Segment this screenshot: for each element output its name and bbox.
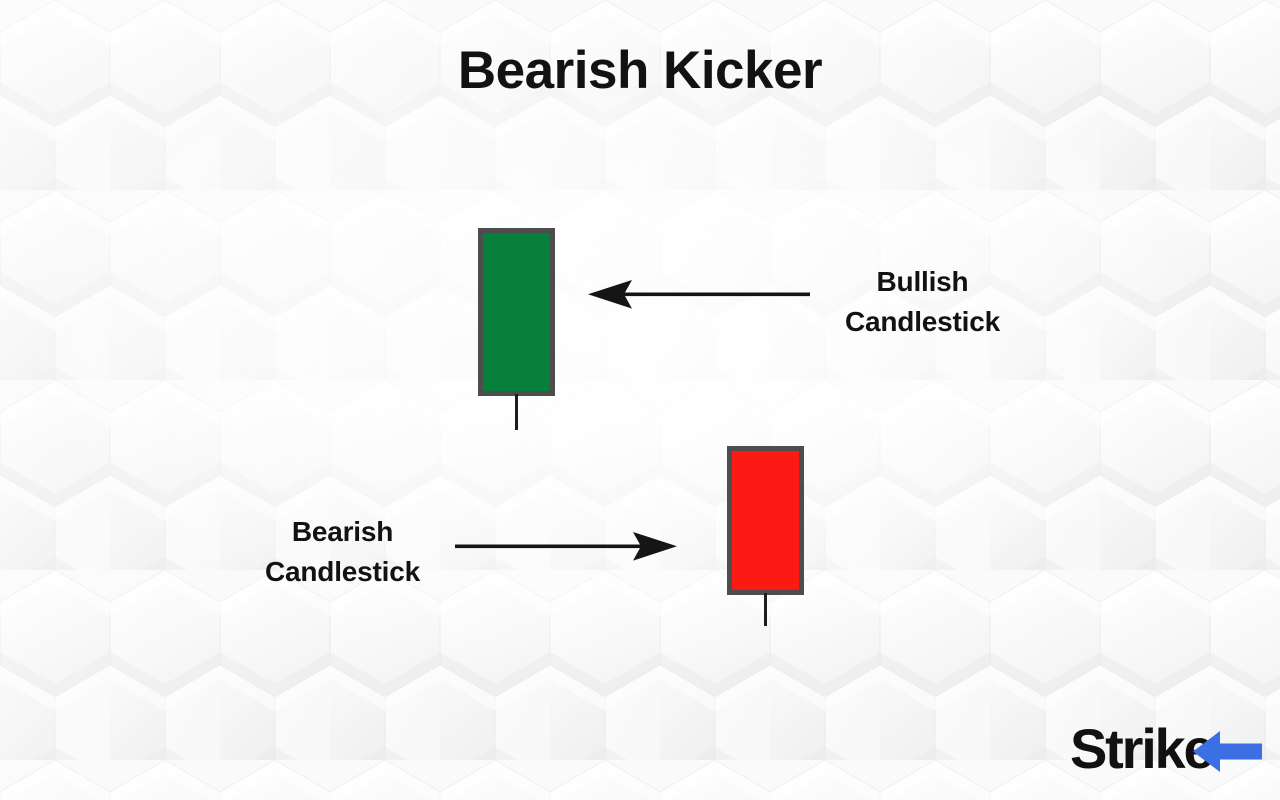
bearish-candle-lower-wick: [764, 593, 767, 626]
label-bearish-candlestick: Bearish Candlestick: [180, 512, 505, 592]
bullish-candle-lower-wick: [515, 394, 518, 430]
label-bearish-line-1: Bearish: [180, 512, 505, 552]
poster-canvas: Bearish Kicker Bullish Candlestick: [0, 0, 1280, 800]
bullish-candlestick: [478, 228, 555, 396]
label-bullish-line-2: Candlestick: [760, 302, 1085, 342]
strike-logo: Strike: [1070, 718, 1268, 782]
label-bullish-line-1: Bullish: [760, 262, 1085, 302]
page-title: Bearish Kicker: [0, 44, 1280, 97]
strike-logo-wordmark: Strike: [1070, 718, 1213, 780]
bearish-candle-body: [727, 446, 804, 595]
bearish-candlestick: [727, 446, 804, 595]
bullish-candle-body: [478, 228, 555, 396]
label-bullish-candlestick: Bullish Candlestick: [760, 262, 1085, 342]
label-bearish-line-2: Candlestick: [180, 552, 505, 592]
